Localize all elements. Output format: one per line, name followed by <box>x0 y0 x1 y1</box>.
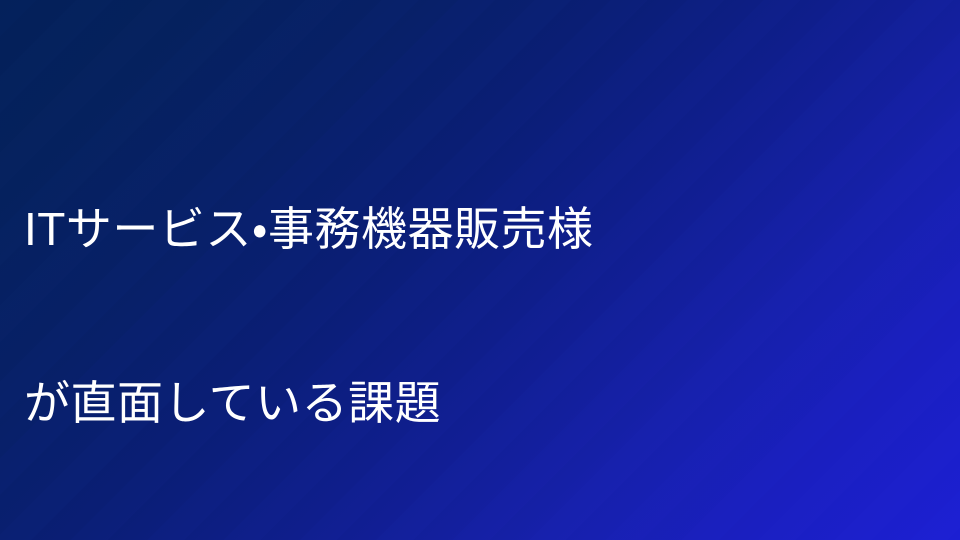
slide-content: ITサービス・事務機器販売様 が直面している課題 への 解決策をご提案 年間で数… <box>24 84 936 540</box>
presentation-slide: ITサービス・事務機器販売様 が直面している課題 への 解決策をご提案 年間で数… <box>0 0 960 540</box>
title-line-2: が直面している課題 <box>24 374 936 432</box>
title-line-1: ITサービス・事務機器販売様 <box>24 200 936 258</box>
slide-title: ITサービス・事務機器販売様 が直面している課題 <box>24 84 936 540</box>
